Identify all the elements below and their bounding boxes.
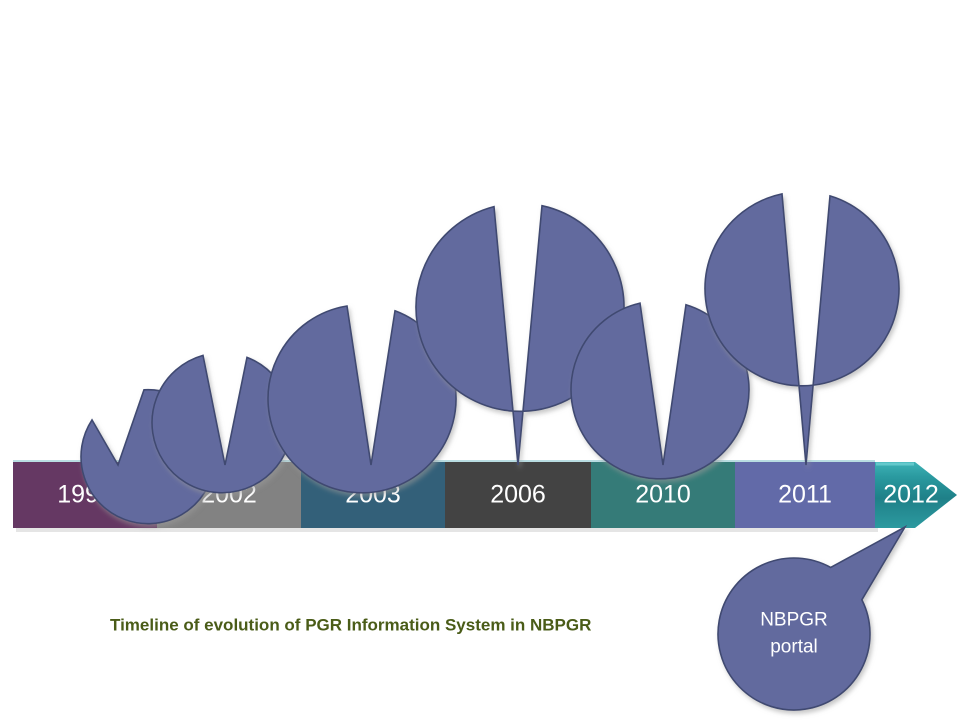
callout-text-line: Genebank [766,117,854,138]
callout-2012[interactable]: NBPGRportal [718,527,905,710]
segment-year-label: 2006 [490,481,546,509]
callout-text-line: information [333,221,427,242]
callout-text-line: based [354,194,406,215]
callout-bubbles: Allotmentof ICnumbersDigitizationof data… [48,36,905,710]
callout-text-line: systems [481,121,551,142]
timeline-canvas: 1997200220032006201020112012 Allotmentof… [0,0,960,720]
segment-year-label: 2011 [778,481,832,509]
callout-text-line: of IC [68,342,108,363]
callout-text-line: Client-server [326,167,434,188]
callout-text-line: Implementation [451,67,581,88]
callout-text-line: system [350,248,410,269]
callout-text-line: of data [199,293,258,314]
callout-text-line: Allotment [48,315,128,336]
callout-text-line: numbers [51,369,125,390]
callout-text-line: NBPGR [760,610,828,631]
segment-year-label: 2010 [635,481,691,509]
callout-text-line: portal [770,637,818,658]
callout-text-line: verification [765,63,856,84]
segment-year-label: 2012 [883,481,939,509]
timeline-segment-2006[interactable]: 2006 [445,462,591,528]
callout-text-line: information [763,144,857,165]
callout-text-line: Physical [775,36,846,57]
caption-layer: Timeline of evolution of PGR Information… [110,615,591,634]
timeline-segment-2011[interactable]: 2011 [735,462,875,528]
callout-text-line: and porting of [752,90,869,111]
callout-text-line: of online PGR [607,207,725,228]
callout-text-line: Digitization [182,266,275,287]
timeline-diagram: 1997200220032006201020112012 Allotmentof… [0,0,960,720]
diagram-caption: Timeline of evolution of PGR Information… [110,615,591,634]
callout-text-line: databases [622,234,710,255]
timeline-segment-2012[interactable]: 2012 [875,462,957,528]
callout-text-line: of online [480,94,552,115]
callout-text-line: Development [610,180,723,201]
